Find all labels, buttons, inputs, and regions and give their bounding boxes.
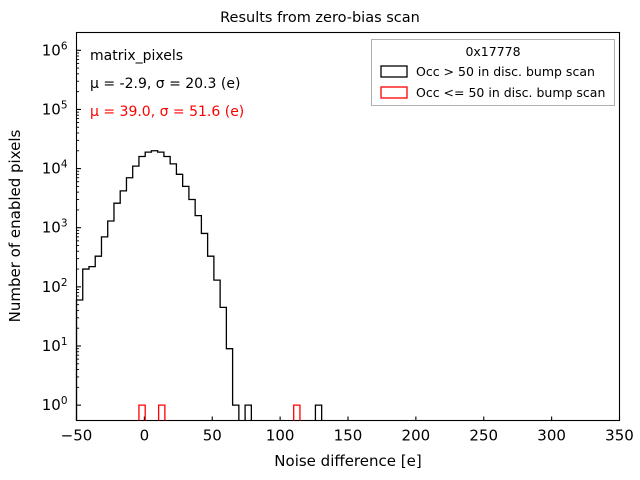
x-tick-label: 50	[203, 427, 222, 445]
y-tick-exponent: 2	[61, 277, 68, 289]
x-tick-label: 300	[537, 427, 566, 445]
histogram-series-occ-gt-50	[77, 151, 239, 421]
legend: 0x17778 Occ > 50 in disc. bump scanOcc <…	[372, 40, 615, 106]
legend-title: 0x17778	[465, 44, 520, 59]
x-axis-label: Noise difference [e]	[274, 452, 421, 470]
legend-label-2: Occ <= 50 in disc. bump scan	[416, 85, 605, 100]
histogram-series-occ-gt-50	[245, 405, 251, 420]
legend-swatch-1	[381, 66, 407, 77]
x-tick-label: 350	[605, 427, 634, 445]
stats-annotations: matrix_pixelsμ = -2.9, σ = 20.3 (e)μ = 3…	[90, 48, 244, 120]
histogram-plot: Results from zero-bias scan −50050100150…	[0, 0, 640, 480]
histogram-series-group	[77, 151, 322, 421]
histogram-series-occ-le-50	[159, 405, 165, 420]
y-tick-label: 101	[42, 336, 68, 355]
chart-title: Results from zero-bias scan	[220, 10, 420, 26]
y-tick-exponent: 3	[61, 218, 68, 230]
annotation-line-1: matrix_pixels	[90, 48, 183, 64]
y-tick-exponent: 4	[61, 159, 68, 171]
y-tick-label: 102	[42, 277, 68, 296]
x-tick-label: 150	[334, 427, 363, 445]
legend-label-1: Occ > 50 in disc. bump scan	[416, 64, 595, 79]
y-tick-label: 100	[42, 395, 68, 414]
annotation-line-3: μ = 39.0, σ = 51.6 (e)	[90, 104, 244, 120]
y-axis-ticks: 100101102103104105106	[42, 40, 81, 414]
y-tick-exponent: 5	[61, 99, 68, 111]
y-tick-label: 104	[42, 159, 68, 178]
y-tick-exponent: 1	[61, 336, 68, 348]
y-tick-exponent: 0	[61, 395, 68, 407]
y-tick-label: 105	[42, 99, 68, 118]
histogram-series-occ-le-50	[294, 405, 300, 420]
x-tick-label: 100	[266, 427, 295, 445]
annotation-line-2: μ = -2.9, σ = 20.3 (e)	[90, 76, 240, 92]
y-tick-label: 106	[42, 40, 68, 59]
histogram-series-occ-gt-50	[315, 405, 321, 420]
y-axis-label: Number of enabled pixels	[6, 129, 24, 322]
y-tick-label: 103	[42, 218, 68, 237]
x-tick-label: 250	[469, 427, 498, 445]
x-tick-label: −50	[61, 427, 93, 445]
y-tick-exponent: 6	[61, 40, 68, 52]
x-tick-label: 0	[140, 427, 150, 445]
legend-swatch-2	[381, 87, 407, 98]
x-tick-label: 200	[402, 427, 431, 445]
figure-canvas: Results from zero-bias scan −50050100150…	[0, 0, 640, 480]
